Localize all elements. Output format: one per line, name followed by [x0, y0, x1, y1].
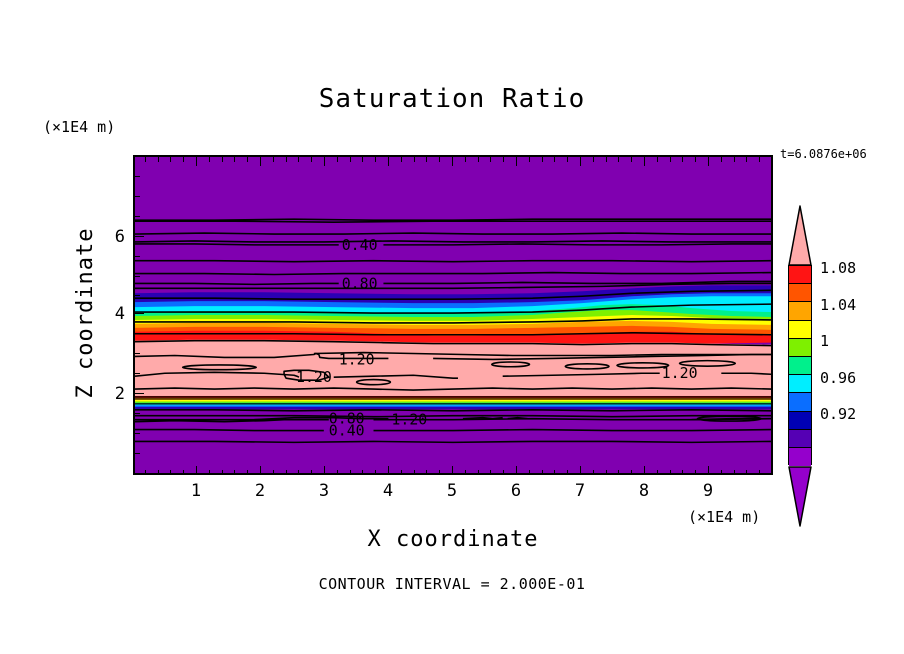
x-axis-unit-label: (×1E4 m) [688, 508, 760, 526]
contour-label: 0.80 [342, 274, 378, 292]
colorbar-tick-label: 0.96 [820, 369, 856, 387]
x-tick-label: 7 [565, 481, 595, 501]
colorbar-tick-label: 1 [820, 332, 829, 350]
colorbar-segment [789, 357, 811, 375]
colorbar-tick-label: 1.04 [820, 296, 856, 314]
colorbar-segment [789, 393, 811, 411]
colorbar-segment [789, 266, 811, 284]
x-tick-label: 4 [373, 481, 403, 501]
x-axis-title: X coordinate [133, 527, 773, 552]
contour-plot-area: 0.40 0.80 1.20 1.20 1.20 1.20 0.80 0.40 [133, 155, 773, 475]
x-tick-label: 6 [501, 481, 531, 501]
colorbar-segment [789, 321, 811, 339]
y-axis-title: Z coordinate [73, 213, 98, 413]
colorbar-segment [789, 284, 811, 302]
contour-label: 1.20 [339, 350, 375, 368]
colorbar-segments [788, 265, 812, 465]
y-axis-unit-label: (×1E4 m) [43, 118, 115, 136]
colorbar: 1.08 1.04 1 0.96 0.92 [786, 205, 814, 525]
y-tick-label: 4 [95, 304, 125, 324]
colorbar-bottom-arrow-icon [788, 465, 812, 525]
x-tick-label: 3 [309, 481, 339, 501]
contour-label: 1.20 [391, 411, 427, 429]
contour-field: 0.40 0.80 1.20 1.20 1.20 1.20 0.80 0.40 [135, 157, 771, 473]
y-tick-label: 2 [95, 384, 125, 404]
colorbar-segment [789, 448, 811, 466]
x-tick-label: 2 [245, 481, 275, 501]
y-tick-label: 6 [95, 227, 125, 247]
contour-label: 0.40 [342, 236, 378, 254]
contour-interval-note: CONTOUR INTERVAL = 2.000E-01 [0, 575, 904, 593]
page-title: Saturation Ratio [0, 84, 904, 114]
colorbar-tick-label: 0.92 [820, 405, 856, 423]
colorbar-segment [789, 412, 811, 430]
x-tick-label: 9 [693, 481, 723, 501]
contour-label: 1.20 [296, 368, 332, 386]
x-tick-label: 1 [181, 481, 211, 501]
colorbar-segment [789, 302, 811, 320]
time-annotation: t=6.0876e+06 [780, 147, 867, 161]
contour-label: 0.40 [329, 422, 365, 440]
contour-label: 1.20 [662, 364, 698, 382]
x-tick-label: 8 [629, 481, 659, 501]
figure-root: Saturation Ratio (×1E4 m) t=6.0876e+06 [0, 0, 904, 654]
colorbar-segment [789, 375, 811, 393]
colorbar-tick-label: 1.08 [820, 259, 856, 277]
x-tick-label: 5 [437, 481, 467, 501]
colorbar-segment [789, 339, 811, 357]
colorbar-top-arrow-icon [788, 205, 812, 265]
colorbar-segment [789, 430, 811, 448]
